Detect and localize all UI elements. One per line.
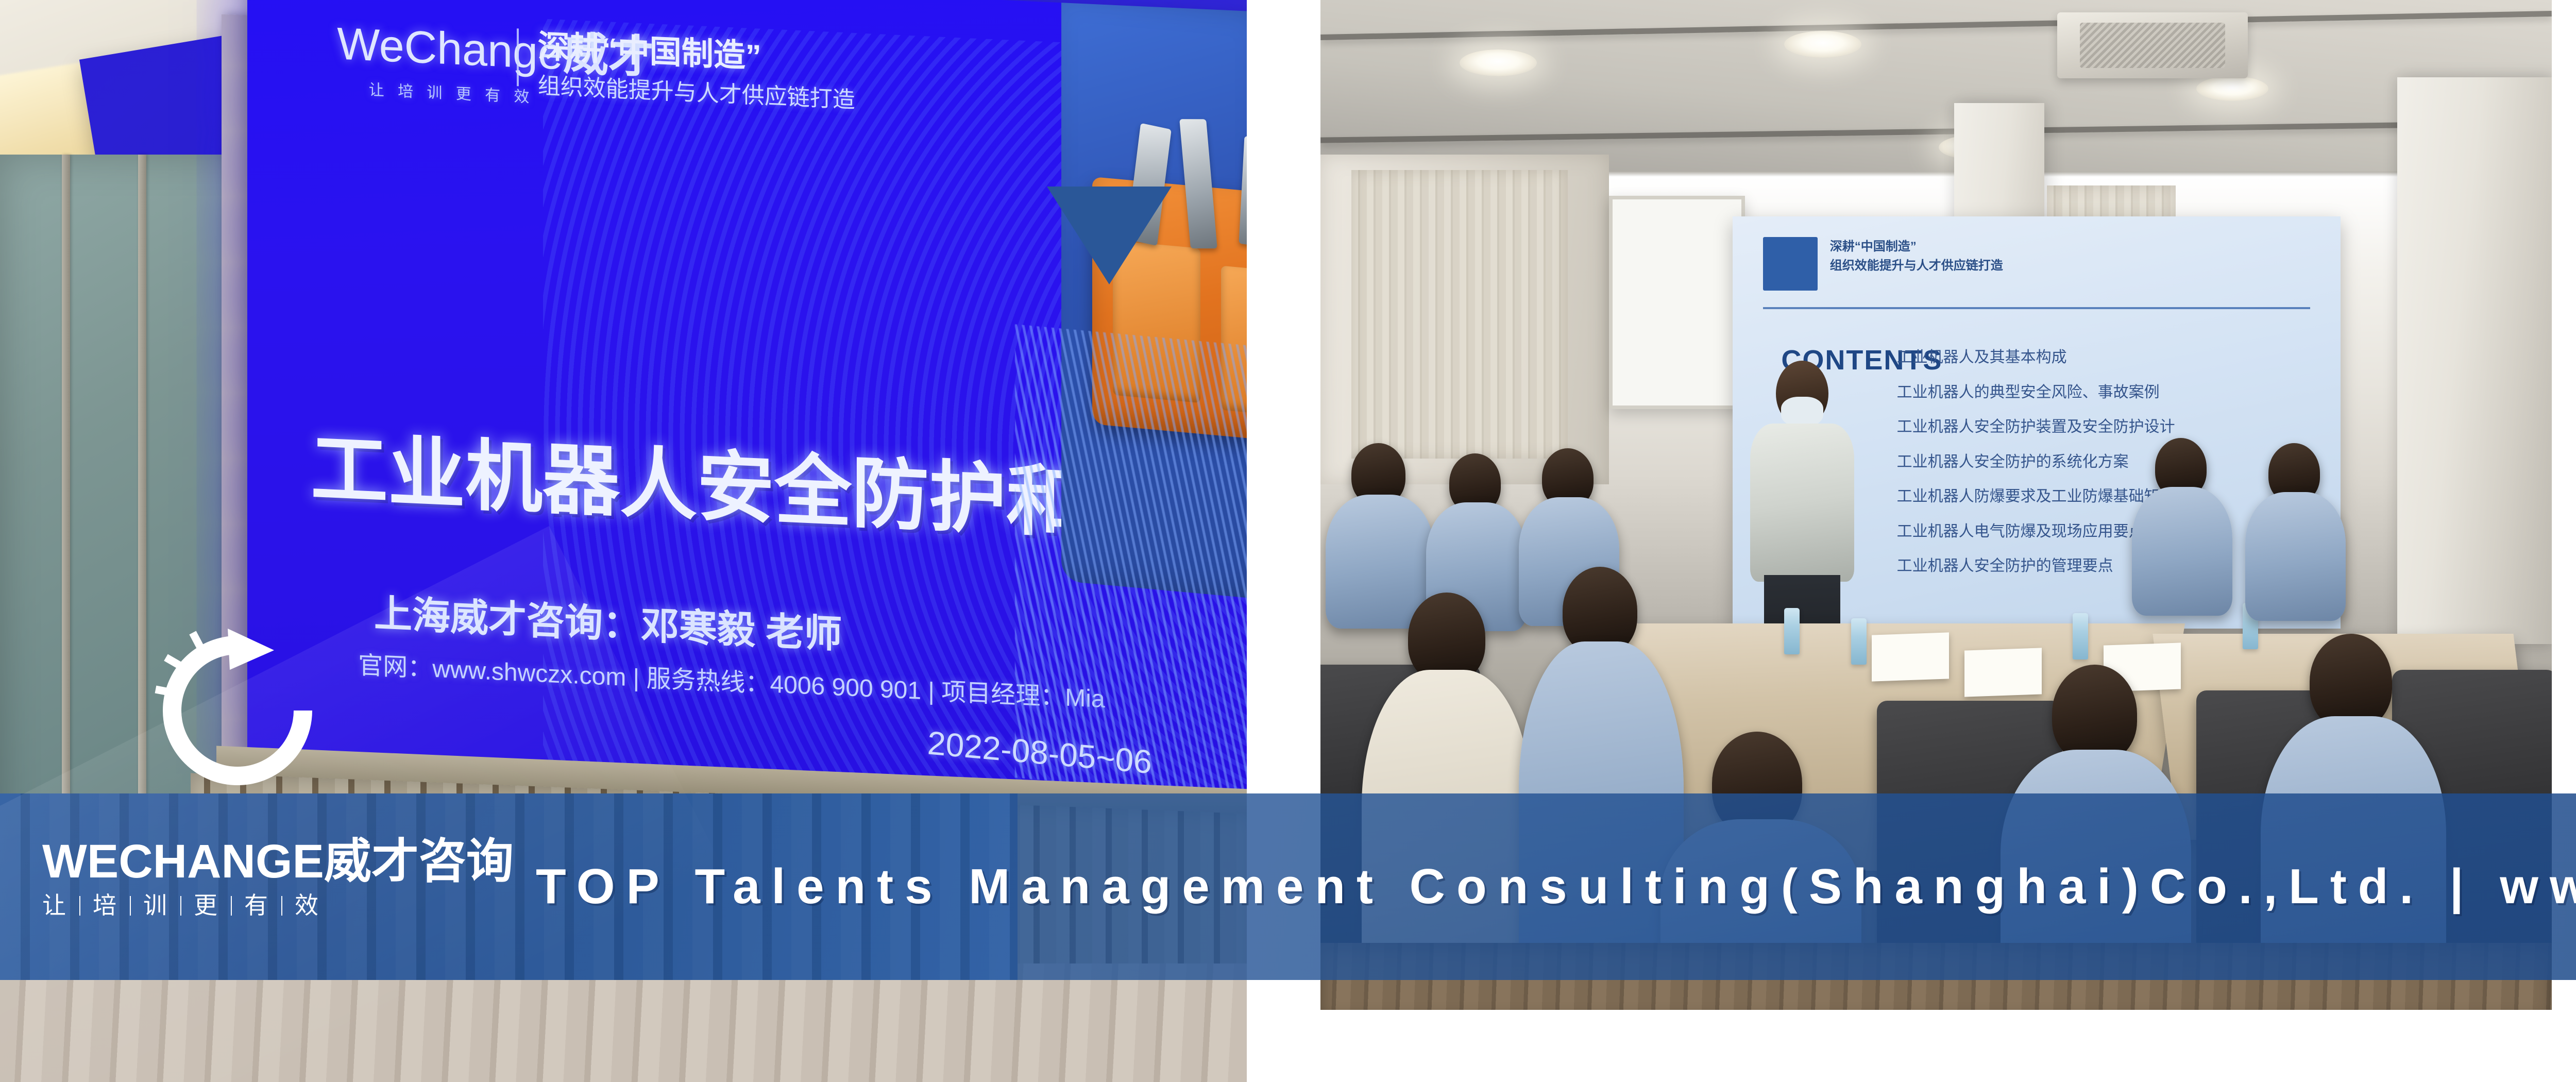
circular-arrow-logo-icon <box>152 625 323 796</box>
name-tent-card <box>1872 632 1949 681</box>
slide-logo <box>1763 237 1818 291</box>
banner-logo-sub-3: 训 <box>143 892 168 919</box>
structural-column <box>2397 77 2552 644</box>
speaker-torso <box>1750 424 1854 582</box>
attendee-body <box>2245 492 2346 621</box>
divider <box>231 896 232 916</box>
banner-logo-sub-4: 更 <box>194 892 218 919</box>
banner-logo-sub-2: 培 <box>93 892 117 919</box>
divider <box>130 896 131 916</box>
attendee-head <box>1408 593 1485 683</box>
banner-pointer-notch <box>1047 187 1172 284</box>
led-divider <box>517 28 519 86</box>
banner-tagline: TOP Talents Management Consulting(Shangh… <box>536 793 2576 980</box>
list-item: 工业机器人防爆要求及工业防爆基础知识 <box>1897 479 2310 514</box>
attendee-body <box>2132 487 2232 616</box>
name-tent-card <box>1964 648 2042 697</box>
banner-logo-sub-1: 让 <box>42 892 67 919</box>
whiteboard <box>1609 196 1745 409</box>
list-item: 工业机器人安全防护装置及安全防护设计 <box>1897 410 2310 445</box>
banner-logo-sub-5: 有 <box>244 892 269 919</box>
led-brand-en: WeChange <box>337 18 563 79</box>
slide-header-line1: 深耕“中国制造” <box>1830 237 2304 256</box>
attendee-head <box>2052 665 2137 763</box>
banner-logo-sub: 让培训更有效 <box>42 893 514 919</box>
collage-canvas: WeChange威才 让 培 训 更 有 效 深耕“中国制造” 组织效能提升与人… <box>0 0 2576 1082</box>
downlight-icon <box>1784 31 1861 58</box>
slide-rule <box>1763 307 2310 309</box>
slide-header: 深耕“中国制造” 组织效能提升与人才供应链打造 <box>1830 237 2304 275</box>
downlight-icon <box>2196 76 2268 101</box>
banner-logo-main: WECHANGE威才咨询 <box>42 838 514 885</box>
banner-logo-sub-6: 效 <box>295 892 319 919</box>
attendee-head <box>2310 634 2392 729</box>
led-worker-graphic <box>999 0 1247 802</box>
list-item: 工业机器人安全防护的系统化方案 <box>1897 445 2310 480</box>
divider <box>79 896 80 916</box>
water-bottle <box>1851 618 1867 665</box>
divider <box>281 896 282 916</box>
led-brand-tagline: 让 培 训 更 有 效 <box>369 77 534 107</box>
halftone-mesh <box>1015 324 1247 802</box>
banner-logo-block: WECHANGE威才咨询 让培训更有效 <box>42 838 514 919</box>
water-bottle <box>2073 613 2088 660</box>
list-item: 工业机器人及其基本构成 <box>1897 340 2310 375</box>
face-mask-icon <box>1781 397 1824 427</box>
ac-vent <box>2057 12 2248 78</box>
divider <box>180 896 181 916</box>
water-bottle <box>1784 608 1800 654</box>
brand-banner: WECHANGE威才咨询 让培训更有效 TOP Talents Manageme… <box>0 793 2576 980</box>
wall-slats <box>1351 170 1568 459</box>
slide-header-line2: 组织效能提升与人才供应链打造 <box>1830 256 2304 275</box>
downlight-icon <box>1460 49 1537 76</box>
list-item: 工业机器人的典型安全风险、事故案例 <box>1897 375 2310 410</box>
